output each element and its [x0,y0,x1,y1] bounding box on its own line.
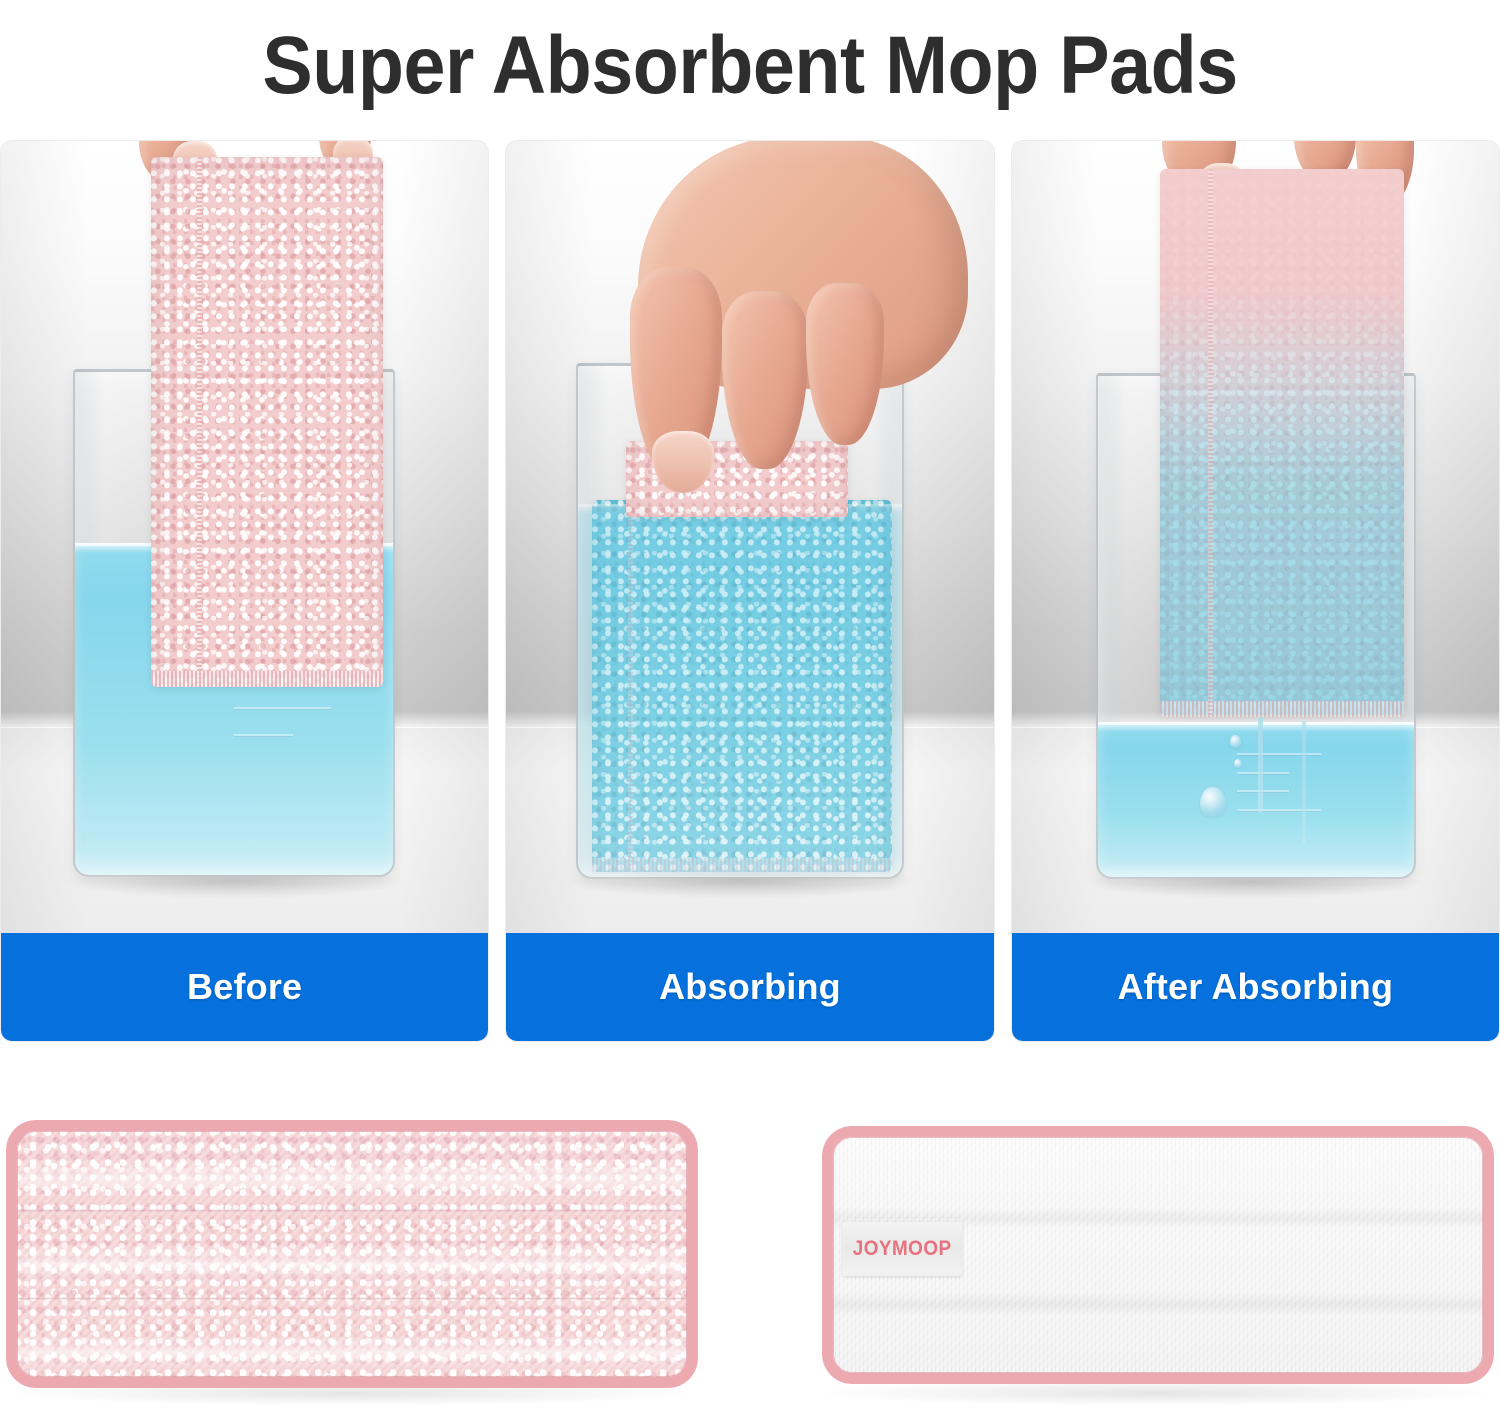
water-drop-icon [1230,735,1241,748]
photo-before [1,141,488,933]
photo-absorbing [506,141,993,933]
demo-panel-after-absorbing: After Absorbing [1011,140,1500,1042]
pad-edge-binding [1160,701,1404,717]
header: Super Absorbent Mop Pads [0,0,1500,132]
product-pad-pink [6,1120,698,1388]
photo-after-absorbing [1012,141,1499,933]
infographic-page: Super Absorbent Mop Pads [0,0,1500,1408]
caption-bar-absorbing: Absorbing [506,933,993,1041]
brand-name: JOYMOOP [842,1237,952,1261]
pad-quilt-line [15,1297,689,1300]
brand-label: JOYMOOP [842,1222,962,1276]
mop-pad-roll-saturated [1160,169,1404,715]
pad-quilt-line [831,1293,1485,1315]
pad-seam [197,157,202,687]
caption-label: After Absorbing [1117,966,1393,1008]
product-pad-row: JOYMOOP [0,1108,1500,1408]
pad-highlight [15,1335,689,1369]
water-drop-icon [1200,787,1226,817]
product-pad-white: JOYMOOP [822,1126,1494,1384]
pad-highlight [15,1247,689,1281]
caption-bar-before: Before [1,933,488,1041]
page-title: Super Absorbent Mop Pads [262,19,1237,113]
pad-quilt-line [15,1209,689,1212]
water-level [578,504,902,877]
demo-panel-before: Before [0,140,489,1042]
pad-seam [1208,169,1213,715]
demo-panel-absorbing: Absorbing [505,140,994,1042]
pad-highlight [15,1159,689,1197]
caption-bar-after-absorbing: After Absorbing [1012,933,1499,1041]
caption-label: Absorbing [659,966,841,1008]
caption-label: Before [187,966,302,1008]
pad-face-pink [15,1129,689,1379]
water-level [1098,722,1414,877]
water-drip-stream [1302,721,1306,843]
demo-panel-row: Before [0,140,1500,1042]
water-drip-stream [1258,717,1263,813]
pad-edge-binding [151,671,383,687]
mop-pad-roll [151,157,383,687]
water-drop-icon [1234,759,1242,768]
